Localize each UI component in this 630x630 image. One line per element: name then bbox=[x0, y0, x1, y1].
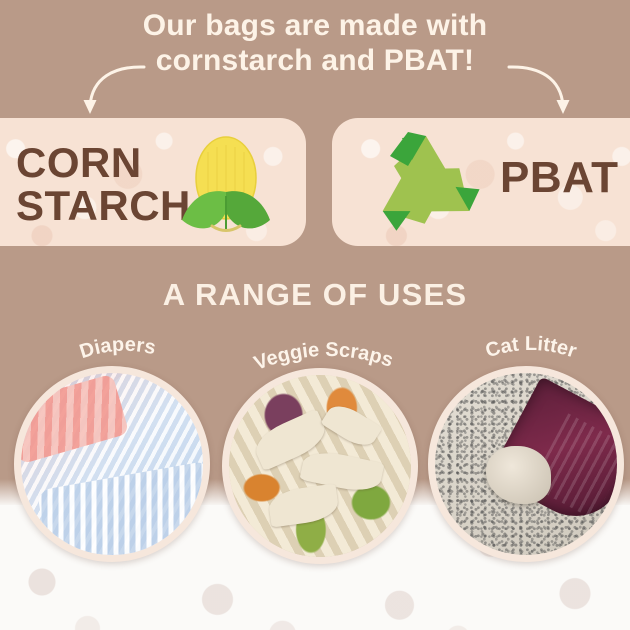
diaper-pink-band bbox=[21, 373, 129, 464]
svg-text:Cat Litter: Cat Litter bbox=[483, 333, 579, 363]
ingredient-panel-pbat: PBAT bbox=[332, 118, 630, 246]
infographic-canvas: Our bags are made with cornstarch and PB… bbox=[0, 0, 630, 630]
diapers-label: Diapers bbox=[44, 330, 194, 378]
litter-clump bbox=[486, 446, 552, 504]
veggie-scraps-label: Veggie Scraps bbox=[226, 336, 422, 386]
section-title: A RANGE OF USES bbox=[0, 277, 630, 313]
use-item-diapers[interactable]: Diapers bbox=[14, 330, 214, 560]
stacked-diapers-photo bbox=[21, 373, 203, 555]
diapers-label-text: Diapers bbox=[77, 334, 158, 364]
svg-text:Diapers: Diapers bbox=[77, 334, 158, 364]
vegetable-scraps-photo bbox=[229, 375, 411, 557]
veg-peel-4 bbox=[320, 399, 382, 453]
use-item-cat-litter[interactable]: Cat Litter bbox=[428, 330, 628, 560]
cat-litter-label-text: Cat Litter bbox=[483, 333, 579, 363]
curved-arrow-down-left-icon bbox=[78, 62, 148, 124]
ingredient-panel-cornstarch: CORN STARCH bbox=[0, 118, 306, 246]
cornstarch-label: CORN STARCH bbox=[16, 142, 191, 228]
cornstarch-label-line-1: CORN bbox=[16, 139, 142, 186]
diaper-blue-sheet bbox=[37, 460, 203, 555]
pbat-label: PBAT bbox=[500, 156, 619, 201]
cat-litter-label: Cat Litter bbox=[456, 330, 606, 378]
headline-line-1: Our bags are made with bbox=[143, 9, 488, 42]
corn-mascot-icon bbox=[168, 134, 284, 244]
veg-peel-3 bbox=[267, 483, 340, 527]
use-item-veggie-scraps[interactable]: Veggie Scraps bbox=[218, 336, 428, 566]
cat-litter-scoop-photo bbox=[435, 373, 617, 555]
veggie-scraps-label-text: Veggie Scraps bbox=[251, 339, 396, 375]
recycle-icon bbox=[356, 130, 496, 234]
curved-arrow-down-right-icon bbox=[505, 62, 575, 124]
svg-text:Veggie Scraps: Veggie Scraps bbox=[251, 339, 396, 375]
cornstarch-label-line-2: STARCH bbox=[16, 185, 191, 228]
